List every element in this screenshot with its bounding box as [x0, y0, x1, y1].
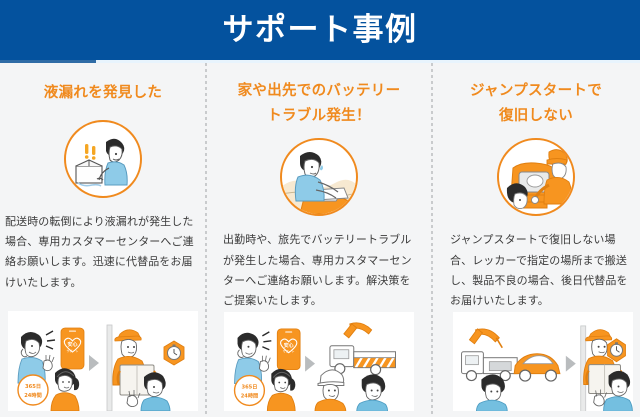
case-body-liquid-leak: 配送時の転倒により液漏れが発生した場合、専用カスタマーセンターへご連絡お願いしま… [3, 212, 203, 293]
phone-screen-label: 安心 [67, 341, 77, 348]
phone-screen-label: 安心 [284, 341, 294, 348]
phone-screen-sublabel: サポート [283, 348, 295, 353]
case-title-battery-trouble: 家や出先でのバッテリー トラブル発生！ [206, 79, 432, 128]
scenario-call-center-to-delivery: 安心 サポート 365日 24時間 [8, 311, 198, 411]
case-title-jump-start-failure: ジャンプスタートで 復旧しない [432, 79, 640, 128]
page-header: サポート事例 [0, 0, 640, 60]
case-title-line: ジャンプスタートで [440, 79, 632, 104]
badge-line-2: 24時間 [24, 391, 42, 399]
support-case-columns: 液漏れを発見した [0, 63, 640, 417]
badge-line-1: 365日 [241, 383, 257, 390]
case-title-liquid-leak: 液漏れを発見した [0, 81, 206, 106]
scenario-tow-transport-to-delivery [453, 312, 633, 411]
badge-line-1: 365日 [25, 383, 41, 390]
case-body-jump-start-failure: ジャンプスタートで復旧しない場合、レッカーで指定の場所まで搬送し、製品不良の場合… [436, 230, 636, 311]
scenario-call-center-to-tow-dispatch: 安心 サポート 365日 24時間 [224, 312, 414, 411]
flow-arrow-icon [566, 355, 576, 371]
support-case-liquid-leak: 液漏れを発見した [0, 63, 206, 417]
case-title-line: 復旧しない [440, 104, 632, 129]
support-case-jump-start-failure: ジャンプスタートで 復旧しない [432, 63, 640, 417]
person-checking-car-battery-icon [280, 138, 358, 216]
person-inspecting-leaking-box-icon [64, 120, 142, 198]
flow-arrow-icon [89, 355, 99, 371]
support-cases-page: サポート事例 液漏れを発見した [0, 0, 640, 417]
flow-arrow-icon [305, 355, 315, 371]
case-title-line: 家や出先でのバッテリー [214, 79, 424, 104]
badge-line-2: 24時間 [241, 391, 259, 399]
mechanic-working-on-engine-icon [497, 138, 575, 216]
case-title-line: トラブル発生！ [214, 104, 424, 129]
case-body-battery-trouble: 出勤時や、旅先でバッテリートラブルが発生した場合、専用カスタマーセンターへご連絡… [213, 230, 425, 311]
page-title: サポート事例 [223, 15, 418, 46]
support-case-battery-trouble: 家や出先でのバッテリー トラブル発生！ [206, 63, 432, 417]
phone-screen-sublabel: サポート [66, 348, 78, 353]
case-title-line: 液漏れを発見した [8, 81, 198, 106]
